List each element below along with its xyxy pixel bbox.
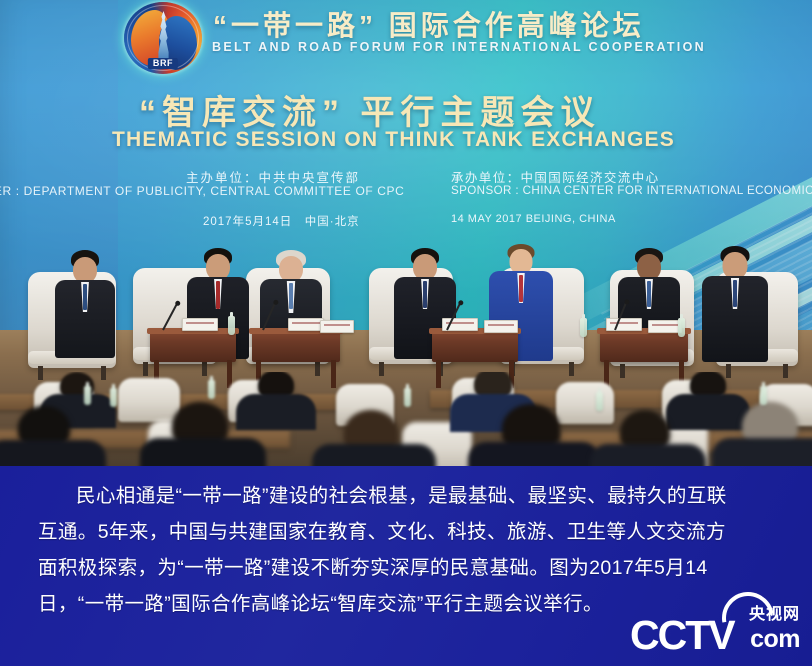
forum-title-en: BELT AND ROAD FORUM FOR INTERNATIONAL CO… [212, 40, 706, 54]
audience-chair [118, 378, 180, 422]
event-date-en: 14 MAY 2017 BEIJING, CHINA [451, 213, 616, 225]
water-bottle [228, 316, 235, 335]
panelist [52, 250, 118, 360]
conference-photo: BRF “一带一路” 国际合作高峰论坛 BELT AND ROAD FORUM … [0, 0, 812, 466]
water-bottle [760, 386, 767, 405]
name-plate [648, 320, 682, 333]
session-title-cn: “智库交流” 平行主题会议 [139, 85, 600, 134]
cctv-letters: CCTV [630, 615, 734, 656]
panelist [700, 246, 770, 362]
name-plate [484, 320, 518, 333]
side-table [150, 328, 236, 362]
cctv-watermark-logo: CCTV 央视网 com [630, 596, 800, 658]
audience-shoulders [312, 444, 436, 466]
audience-shoulders [140, 438, 266, 466]
name-plate [182, 318, 218, 331]
brf-logo-icon: BRF [124, 2, 202, 74]
water-bottle [84, 386, 91, 405]
water-bottle [110, 388, 117, 407]
audience-shoulders [666, 394, 750, 430]
side-table [432, 328, 518, 362]
audience-area [0, 372, 812, 466]
audience-shoulders [712, 438, 812, 466]
water-bottle [208, 380, 215, 399]
name-plate [606, 318, 642, 331]
audience-shoulders [0, 440, 106, 466]
brf-logo-text: BRF [148, 58, 178, 69]
sponsor-label-en: SPONSOR : CHINA CENTER FOR INTERNATIONAL… [451, 184, 812, 197]
water-bottle [580, 318, 587, 337]
audience-shoulders [236, 394, 316, 430]
cctv-com-text: com [750, 625, 800, 654]
side-table [252, 328, 340, 362]
forum-title-cn: “一带一路” 国际合作高峰论坛 [213, 4, 645, 44]
audience-shoulders [590, 444, 706, 466]
side-table [600, 328, 688, 362]
water-bottle [596, 392, 603, 411]
name-plate [320, 320, 354, 333]
cctv-cn-text: 央视网 [749, 600, 800, 624]
screenshot-root: BRF “一带一路” 国际合作高峰论坛 BELT AND ROAD FORUM … [0, 0, 812, 666]
name-plate [288, 318, 324, 331]
water-bottle [404, 388, 411, 407]
organizer-label-en: ZER : DEPARTMENT OF PUBLICITY, CENTRAL C… [0, 184, 404, 198]
session-title-en: THEMATIC SESSION ON THINK TANK EXCHANGES [112, 128, 675, 152]
audience-chair [556, 382, 614, 424]
audience-shoulders [468, 442, 600, 466]
event-date-cn: 2017年5月14日 中国·北京 [203, 213, 360, 229]
caption-bar: 民心相通是“一带一路”建设的社会根基，是最基础、最坚实、最持久的互联互通。5年来… [0, 466, 812, 666]
water-bottle [678, 318, 685, 337]
